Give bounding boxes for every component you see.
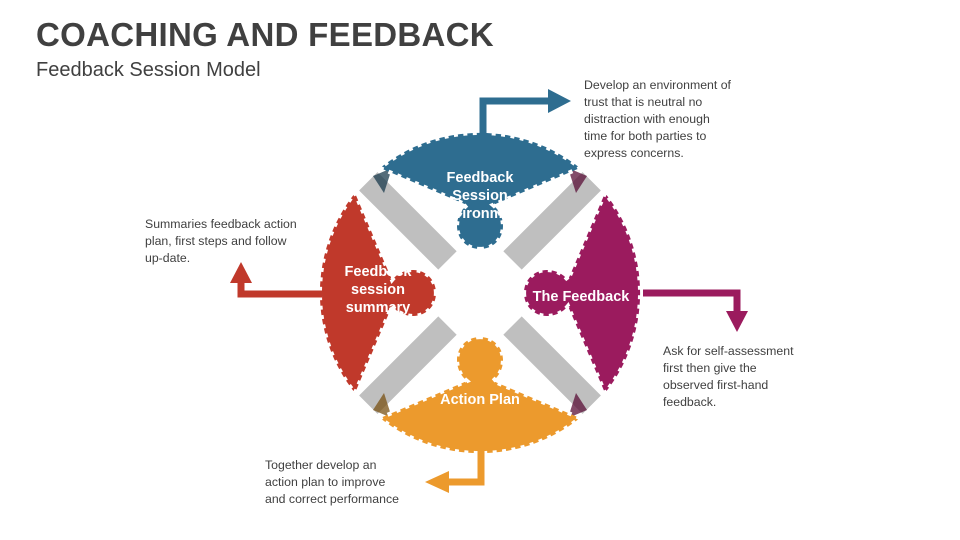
note-action-plan: Together develop an action plan to impro… [265,457,450,508]
segment-label-top-line3: Environment [436,206,525,222]
segment-label-right-line1: The Feedback [533,289,631,305]
segment-label-top-line1: Feedback [447,170,515,186]
segment-label-top-line2: Session [452,188,508,204]
segment-label-left-line3: summary [346,300,410,316]
segment-label-bottom-line1: Action Plan [440,392,520,408]
feedback-session-model-diagram: Feedback Session Environment The Feedbac… [0,0,960,540]
segment-label-left-line1: Feedback [345,264,413,280]
arrow-right-magenta [643,293,748,332]
note-feedback-session-environment: Develop an environment of trust that is … [584,77,759,162]
arrow-top-right-blue [483,89,571,140]
note-the-feedback: Ask for self-assessment first then give … [663,343,843,411]
note-feedback-session-summary: Summaries feedback action plan, first st… [145,216,325,267]
segment-label-left-line2: session [351,282,405,298]
